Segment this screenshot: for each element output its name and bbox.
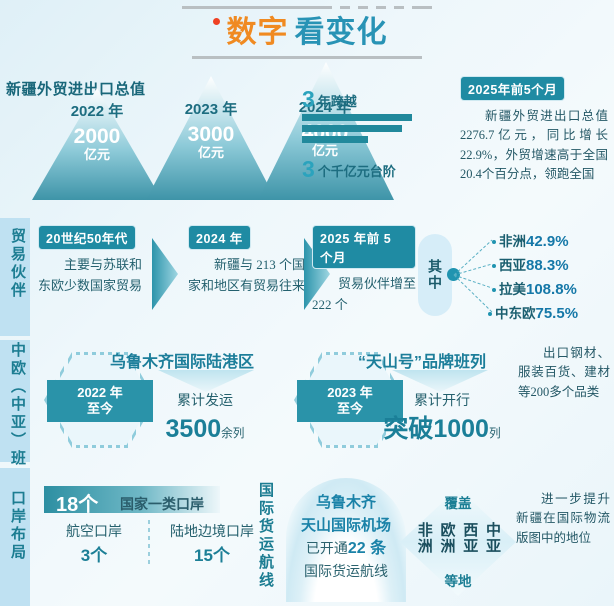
airport-route-count: 22 条 bbox=[348, 540, 386, 557]
mountain-value-2023: 3000 亿元 bbox=[166, 124, 256, 160]
section4-note-text: 进一步提升新疆在国际物流版图中的地位 bbox=[516, 490, 610, 548]
section4-note: 进一步提升新疆在国际物流版图中的地位 bbox=[516, 490, 610, 548]
mountain-value-2022: 2000 亿元 bbox=[52, 126, 142, 162]
section1-heading: 新疆外贸进出口总值 bbox=[6, 78, 146, 99]
mountain-unit-2023: 亿元 bbox=[166, 146, 256, 160]
section1-note: 2025年前5个月 新疆外贸进出口总值2276.7亿元，同比增长22.9%，外贸… bbox=[460, 76, 608, 185]
hex-line1-2: 2023 年 bbox=[327, 385, 373, 401]
rail-sub-unit-1: 余列 bbox=[221, 427, 244, 440]
cross-years-number: 3 bbox=[302, 86, 315, 112]
branch-item-1: 非洲42.9% bbox=[492, 230, 569, 250]
airport-pre: 已开通 bbox=[306, 540, 348, 556]
port-count: 18个 bbox=[56, 488, 98, 517]
rail-sub-label-1: 累计发运 bbox=[140, 390, 270, 411]
region-item-3: 西亚 bbox=[462, 522, 478, 554]
port-divider bbox=[148, 520, 150, 566]
airport-routes-line: 已开通22 条 bbox=[286, 537, 406, 561]
title-dot-icon bbox=[213, 18, 220, 25]
region-item-2: 欧洲 bbox=[439, 522, 455, 554]
port-type-1: 航空口岸 3个 bbox=[44, 520, 144, 570]
section1-note-body: 新疆外贸进出口总值2276.7亿元，同比增长22.9%，外贸增速高于全国20.4… bbox=[460, 107, 608, 185]
ladder-label: 3个千亿元台阶 bbox=[302, 156, 396, 183]
arrow-icon-1 bbox=[152, 238, 178, 310]
hex-line2-2: 至今 bbox=[337, 401, 363, 417]
section3-note: 出口钢材、服装百货、建材等200多个品类 bbox=[518, 344, 610, 402]
step-bars bbox=[302, 114, 442, 147]
airport-name-line2: 天山国际机场 bbox=[286, 515, 406, 538]
rail-sub-unit-2: 列 bbox=[489, 427, 501, 440]
title-rule-bottom bbox=[192, 56, 422, 59]
branch-region-2: 西亚 bbox=[499, 258, 526, 273]
bullet-icon-3 bbox=[492, 288, 496, 292]
step-bar-3 bbox=[302, 136, 368, 143]
branch-value-1: 42.9% bbox=[526, 233, 569, 250]
cross-years-label: 3年跨越 bbox=[302, 86, 357, 113]
side-label-air-routes: 国际货运航线 bbox=[250, 482, 276, 590]
airport-block: 乌鲁木齐 天山国际机场 已开通22 条 国际货运航线 bbox=[286, 492, 406, 582]
title-blue: 看变化 bbox=[295, 16, 388, 49]
branch-value-4: 75.5% bbox=[536, 305, 579, 322]
funnel-icon-2 bbox=[392, 370, 488, 392]
branch-region-1: 非洲 bbox=[499, 234, 526, 249]
section-rail: 2022 年 至今 乌鲁木齐国际陆港区 累计发运 3500余列 2023 年 至… bbox=[0, 338, 614, 463]
partner-body-2: 新疆与 213 个国家和地区有贸易往来 bbox=[188, 255, 306, 297]
rail-head-1: 乌鲁木齐国际陆港区 bbox=[110, 348, 254, 372]
partner-text-2: 新疆与 213 个国家和地区有贸易往来 bbox=[188, 255, 306, 297]
branch-item-2: 西亚88.3% bbox=[492, 254, 569, 274]
airport-post: 国际货运航线 bbox=[286, 561, 406, 582]
partner-body-1: 主要与苏联和东欧少数国家贸易 bbox=[38, 255, 148, 297]
mountain-year-2023: 2023 年 bbox=[166, 98, 256, 119]
title-orange: 数字 bbox=[227, 16, 289, 49]
branch-region-3: 拉美 bbox=[499, 282, 526, 297]
port-type-value-2: 15个 bbox=[194, 546, 230, 565]
rail-sub-1: 累计发运 3500余列 bbox=[140, 390, 270, 449]
branch-value-2: 88.3% bbox=[526, 257, 569, 274]
partner-item-3: 2025 年前 5 个月 贸易伙伴增至 222 个 bbox=[312, 225, 416, 316]
region-item-4: 中亚 bbox=[484, 522, 500, 554]
port-type-value-1: 3个 bbox=[81, 546, 107, 565]
section-trade-partners: 20世纪50年代 主要与苏联和东欧少数国家贸易 2024 年 新疆与 213 个… bbox=[0, 222, 614, 332]
partner-text-3: 贸易伙伴增至 222 个 bbox=[312, 274, 416, 316]
bullet-icon-2 bbox=[492, 264, 496, 268]
title-block: 数字看变化 bbox=[0, 6, 614, 59]
rail-sub-2: 累计开行 突破1000列 bbox=[372, 390, 512, 449]
partner-item-1: 20世纪50年代 主要与苏联和东欧少数国家贸易 bbox=[38, 225, 148, 297]
cross-years-text: 年跨越 bbox=[318, 94, 357, 109]
ladder-number: 3 bbox=[302, 156, 315, 182]
branch-item-3: 拉美108.8% bbox=[492, 278, 577, 298]
partner-badge-3: 2025 年前 5 个月 bbox=[312, 225, 416, 269]
rail-head-2: “天山号”品牌班列 bbox=[358, 348, 486, 372]
coverage-bottom-label: 等地 bbox=[400, 570, 516, 590]
section3-note-text: 出口钢材、服装百货、建材等200多个品类 bbox=[518, 344, 610, 402]
hex-line1-1: 2022 年 bbox=[77, 385, 123, 401]
coverage-top-label: 覆盖 bbox=[400, 492, 516, 512]
step-bar-2 bbox=[302, 125, 402, 132]
rail-sub-label-2: 累计开行 bbox=[372, 390, 512, 411]
branch-item-4: 中东欧75.5% bbox=[488, 302, 578, 322]
rail-sub-value-2: 突破1000 bbox=[383, 415, 489, 443]
partner-item-2: 2024 年 新疆与 213 个国家和地区有贸易往来 bbox=[188, 225, 306, 297]
mountain-value-2022-num: 2000 bbox=[74, 125, 121, 148]
section1-note-badge: 2025年前5个月 bbox=[460, 76, 565, 101]
bullet-icon-1 bbox=[492, 240, 496, 244]
rail-sub-value-1: 3500 bbox=[166, 415, 222, 443]
partner-text-1: 主要与苏联和东欧少数国家贸易 bbox=[38, 255, 148, 297]
bullet-icon-4 bbox=[488, 312, 492, 316]
port-type-name-1: 航空口岸 bbox=[44, 520, 144, 542]
airport-name-line1: 乌鲁木齐 bbox=[286, 492, 406, 515]
port-label: 国家一类口岸 bbox=[120, 494, 204, 514]
branch-region-4: 中东欧 bbox=[495, 306, 536, 321]
branch-value-3: 108.8% bbox=[526, 281, 577, 298]
mountain-value-2023-num: 3000 bbox=[188, 123, 235, 146]
region-item-1: 非洲 bbox=[416, 522, 432, 554]
partner-badge-2: 2024 年 bbox=[188, 225, 251, 250]
section1-note-text: 新疆外贸进出口总值2276.7亿元，同比增长22.9%，外贸增速高于全国20.4… bbox=[460, 107, 608, 185]
coverage-regions: 非洲 欧洲 西亚 中亚 bbox=[400, 522, 516, 554]
hexagon-band-1: 2022 年 至今 bbox=[47, 380, 153, 422]
hex-line2-1: 至今 bbox=[87, 401, 113, 417]
partner-body-3: 贸易伙伴增至 222 个 bbox=[312, 274, 416, 316]
ladder-text: 个千亿元台阶 bbox=[318, 164, 396, 179]
infographic-page: 数字看变化 新疆外贸进出口总值 2022 年 2000 亿元 2023 年 30… bbox=[0, 0, 614, 606]
partner-badge-1: 20世纪50年代 bbox=[38, 225, 136, 250]
step-bar-1 bbox=[302, 114, 412, 121]
page-title: 数字看变化 bbox=[0, 9, 614, 56]
mountain-year-2022: 2022 年 bbox=[52, 100, 142, 121]
funnel-icon-1 bbox=[158, 370, 254, 392]
mountain-unit-2022: 亿元 bbox=[52, 148, 142, 162]
